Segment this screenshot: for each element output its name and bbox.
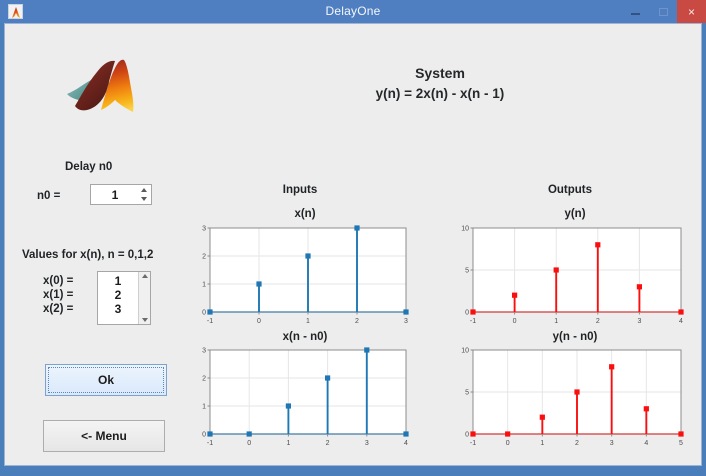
- list-item[interactable]: 3: [98, 302, 138, 316]
- svg-text:2: 2: [355, 318, 359, 325]
- svg-text:0: 0: [202, 432, 206, 439]
- svg-text:-1: -1: [470, 440, 476, 447]
- svg-text:4: 4: [644, 440, 648, 447]
- svg-text:1: 1: [202, 282, 206, 289]
- minimize-button[interactable]: [621, 0, 649, 23]
- minimize-icon: [631, 13, 640, 15]
- ok-button[interactable]: Ok: [45, 364, 167, 396]
- chart-ynn0[interactable]: -10123450510: [457, 344, 685, 448]
- delay-label: Delay n0: [65, 161, 112, 173]
- svg-text:0: 0: [465, 432, 469, 439]
- svg-text:5: 5: [465, 390, 469, 397]
- x-values-listbox[interactable]: 1 2 3: [97, 271, 151, 325]
- svg-text:0: 0: [247, 440, 251, 447]
- x2-label: x(2) =: [43, 302, 73, 316]
- values-label: Values for x(n), n = 0,1,2: [22, 249, 153, 261]
- maximize-icon: [659, 8, 668, 16]
- scroll-down-icon[interactable]: [142, 318, 148, 322]
- chevron-down-icon[interactable]: [141, 197, 147, 201]
- x0-label: x(0) =: [43, 274, 73, 288]
- scroll-up-icon[interactable]: [142, 274, 148, 278]
- inputs-header: Inputs: [240, 184, 360, 196]
- svg-text:2: 2: [575, 440, 579, 447]
- svg-text:1: 1: [540, 440, 544, 447]
- close-button[interactable]: ×: [677, 0, 706, 23]
- svg-text:3: 3: [637, 318, 641, 325]
- n0-label: n0 =: [37, 190, 60, 202]
- svg-text:2: 2: [326, 440, 330, 447]
- close-icon: ×: [688, 6, 695, 18]
- list-item[interactable]: 2: [98, 288, 138, 302]
- svg-text:4: 4: [679, 318, 683, 325]
- svg-text:3: 3: [365, 440, 369, 447]
- svg-text:0: 0: [465, 310, 469, 317]
- page-title: System: [305, 65, 575, 81]
- chart-yn[interactable]: -1012340510: [457, 222, 685, 326]
- svg-text:-1: -1: [207, 440, 213, 447]
- svg-text:1: 1: [202, 404, 206, 411]
- svg-text:3: 3: [202, 226, 206, 233]
- maximize-button[interactable]: [649, 0, 677, 23]
- outputs-header: Outputs: [510, 184, 630, 196]
- window-title: DelayOne: [0, 4, 706, 18]
- svg-text:3: 3: [404, 318, 408, 325]
- system-equation: y(n) = 2x(n) - x(n - 1): [295, 86, 585, 101]
- svg-text:3: 3: [610, 440, 614, 447]
- plot-title-xn: x(n): [245, 208, 365, 220]
- svg-text:-1: -1: [207, 318, 213, 325]
- plot-title-xnn0: x(n - n0): [245, 331, 365, 343]
- x-values-rows[interactable]: 1 2 3: [98, 274, 138, 316]
- svg-text:0: 0: [513, 318, 517, 325]
- title-bar[interactable]: DelayOne ×: [0, 0, 706, 23]
- n0-stepper-arrows[interactable]: [138, 186, 149, 203]
- chevron-up-icon[interactable]: [141, 188, 147, 192]
- list-item[interactable]: 1: [98, 274, 138, 288]
- x1-label: x(1) =: [43, 288, 73, 302]
- svg-text:1: 1: [286, 440, 290, 447]
- x-index-labels: x(0) = x(1) = x(2) =: [43, 274, 73, 316]
- svg-text:0: 0: [506, 440, 510, 447]
- menu-back-button[interactable]: <- Menu: [43, 420, 165, 452]
- svg-text:0: 0: [257, 318, 261, 325]
- ok-button-label: Ok: [98, 373, 114, 387]
- svg-text:1: 1: [306, 318, 310, 325]
- plot-title-yn: y(n): [515, 208, 635, 220]
- svg-text:2: 2: [596, 318, 600, 325]
- svg-text:5: 5: [679, 440, 683, 447]
- svg-text:10: 10: [461, 226, 469, 233]
- svg-text:4: 4: [404, 440, 408, 447]
- chart-xnn0[interactable]: -1012340123: [200, 344, 410, 448]
- chart-xn[interactable]: -101230123: [200, 222, 410, 326]
- svg-text:-1: -1: [470, 318, 476, 325]
- n0-stepper[interactable]: 1: [90, 184, 152, 205]
- matlab-membrane-logo: [63, 54, 143, 116]
- n0-input[interactable]: 1: [91, 188, 139, 202]
- client-area: System y(n) = 2x(n) - x(n - 1) Delay n0 …: [4, 23, 702, 466]
- svg-text:3: 3: [202, 348, 206, 355]
- menu-back-button-label: <- Menu: [81, 429, 127, 443]
- listbox-scrollbar[interactable]: [138, 272, 150, 324]
- svg-text:1: 1: [554, 318, 558, 325]
- svg-text:0: 0: [202, 310, 206, 317]
- svg-text:2: 2: [202, 254, 206, 261]
- plot-title-ynn0: y(n - n0): [515, 331, 635, 343]
- svg-text:10: 10: [461, 348, 469, 355]
- svg-text:5: 5: [465, 268, 469, 275]
- application-window: DelayOne ×: [0, 0, 706, 476]
- svg-text:2: 2: [202, 376, 206, 383]
